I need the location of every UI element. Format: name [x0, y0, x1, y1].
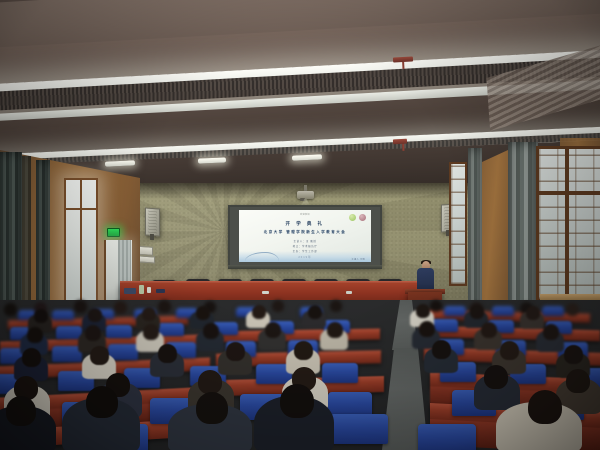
person-head-r3-4 — [203, 323, 219, 339]
chair-r1-10[interactable] — [542, 306, 564, 316]
person-head-fg-1 — [6, 396, 36, 426]
person-head-r3-2 — [85, 325, 101, 341]
curtain-right-1[interactable] — [468, 148, 482, 324]
person-head-r2-8 — [470, 305, 484, 319]
person-head-r3-9 — [543, 324, 559, 340]
chair-fg-2[interactable] — [330, 414, 388, 444]
person-head-fg-4 — [280, 384, 314, 418]
slide-subtitle: 北京大学 管理学院新生入学教育大会 — [239, 230, 371, 235]
slide-footer: 汇报人 王明 — [352, 258, 365, 261]
person-head-r5-3 — [198, 370, 222, 394]
ceiling-sprinkler-tag-2 — [393, 139, 407, 145]
person-head-r4-6 — [432, 340, 451, 359]
person-head-r4-5 — [294, 341, 313, 360]
window-right-far — [449, 162, 467, 286]
window-left — [64, 178, 98, 304]
window-left-mullion-v — [80, 180, 82, 302]
person-head-r4-7 — [500, 341, 519, 360]
person-head-r1-1 — [4, 303, 17, 316]
person-head-r5-5 — [484, 365, 508, 389]
person-head-r4-1 — [22, 348, 41, 367]
person-head-r2-2 — [88, 308, 102, 322]
person-head-r4-4 — [226, 342, 245, 361]
person-head-r4-8 — [564, 345, 583, 364]
slide-red-logo-icon — [359, 214, 366, 221]
ceiling-sprinkler-tag-1 — [393, 56, 413, 62]
emergency-exit-sign — [107, 228, 120, 237]
person-head-r2-3 — [142, 307, 156, 321]
person-head-r1-5 — [158, 300, 171, 313]
person-head-r2-4 — [196, 306, 210, 320]
window-right-far-grid — [451, 164, 465, 284]
person-head-r5-6 — [566, 369, 590, 393]
person-head-r2-6 — [308, 305, 322, 319]
person-head-r2-5 — [252, 305, 266, 319]
person-head-r2-1 — [34, 309, 48, 323]
person-head-r4-2 — [90, 346, 109, 365]
table-item-bottle[interactable] — [139, 285, 144, 294]
slide-line-1: 主讲人：王 教授 — [239, 239, 371, 243]
chair-r2-3[interactable] — [106, 325, 132, 338]
person-head-fg-2 — [86, 386, 118, 418]
chair-fg-3[interactable] — [418, 424, 476, 450]
person-head-r1-12 — [566, 303, 579, 316]
person-head-r2-9 — [526, 306, 540, 320]
person-head-r3-6 — [327, 322, 343, 338]
person-head-fg-5 — [528, 390, 562, 424]
slide-green-logo-icon — [349, 214, 356, 221]
wall-speaker-left — [145, 207, 160, 236]
person-head-r3-7 — [419, 321, 435, 337]
table-item-paper — [262, 291, 269, 294]
speaker-bracket-left — [150, 234, 154, 240]
person-head-r3-5 — [265, 322, 281, 338]
person-head-r3-3 — [143, 324, 159, 340]
chair-r4-6[interactable] — [322, 363, 358, 383]
projection-screen[interactable]: 欢迎参加 开 学 典 礼 北京大学 管理学院新生入学教育大会 主讲人：王 教授 … — [228, 205, 382, 267]
chair-r1-2[interactable] — [52, 310, 74, 320]
window-right-mullion-v — [565, 149, 569, 299]
person-head-r3-1 — [27, 327, 43, 343]
person-head-r1-4 — [114, 301, 127, 314]
person-head-r1-9 — [430, 300, 442, 312]
slide-title: 开 学 典 礼 — [239, 221, 371, 227]
person-head-r2-7 — [416, 304, 430, 318]
wall-outlet-left[interactable] — [139, 255, 155, 263]
window-right-mullion-h — [539, 191, 600, 195]
person-head-r1-3 — [74, 300, 87, 313]
slide-line-2: 地点：学术报告厅 — [239, 244, 371, 248]
person-head-r4-3 — [158, 344, 177, 363]
chair-r1-9[interactable] — [492, 306, 514, 316]
chair-r1-8[interactable] — [444, 306, 466, 316]
projection-screen-surface: 欢迎参加 开 学 典 礼 北京大学 管理学院新生入学教育大会 主讲人：王 教授 … — [239, 210, 371, 262]
lecture-hall-scene: 欢迎参加 开 学 典 礼 北京大学 管理学院新生入学教育大会 主讲人：王 教授 … — [0, 0, 600, 450]
person-head-r3-8 — [481, 322, 497, 338]
person-head-r1-7 — [272, 300, 284, 312]
table-item-cup[interactable] — [147, 287, 151, 293]
person-head-r1-8 — [330, 300, 342, 312]
screen-bottom-tray — [228, 265, 382, 269]
window-right-near-grid — [539, 149, 600, 299]
table-item-folder[interactable] — [156, 289, 165, 293]
person-head-fg-3 — [196, 392, 228, 424]
window-right-near — [536, 146, 600, 302]
table-item-bag[interactable] — [124, 288, 136, 294]
table-item-paper-2 — [346, 291, 352, 294]
